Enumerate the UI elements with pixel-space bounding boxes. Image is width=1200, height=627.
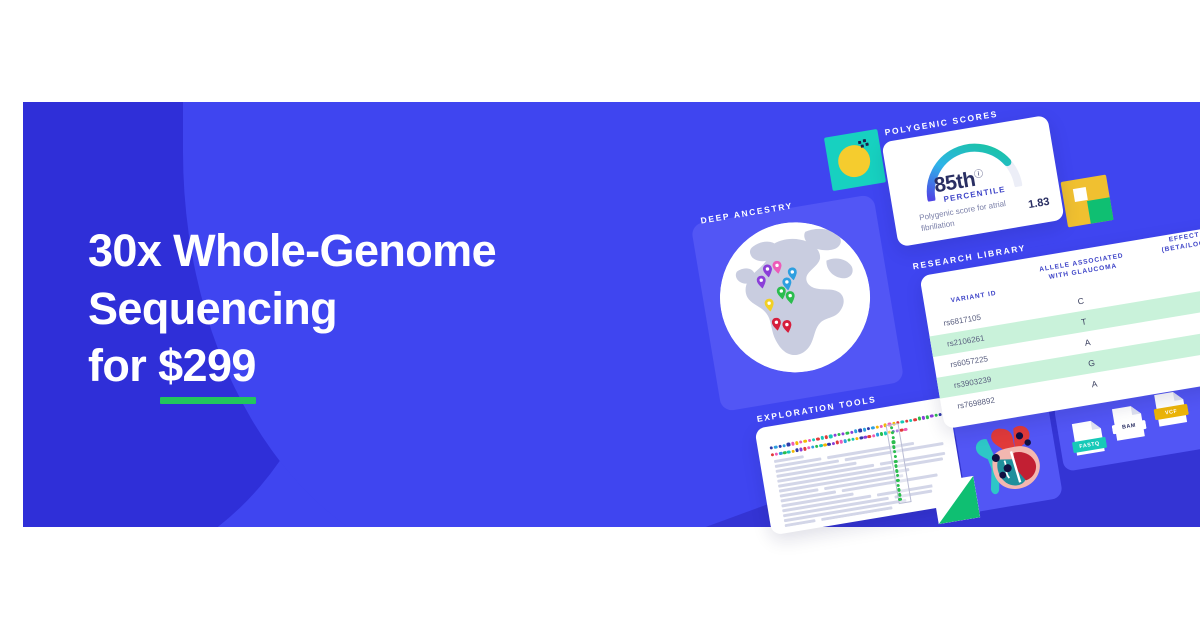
file-icon-bam[interactable]: BAM [1109,402,1148,443]
chromosome-marker [829,434,833,438]
selection-marker [894,459,898,463]
chromosome-marker [934,413,938,417]
polygenic-score-value: 1.83 [1027,196,1050,211]
cell-variant-id: rs6057225 [950,354,989,369]
chromosome-marker [917,417,921,421]
chromosome-marker [782,444,786,448]
pin-pink [772,260,783,274]
chromosome-marker [867,427,871,431]
chromosome-marker [803,439,807,443]
price-value: $299 [158,340,256,391]
banner-stage: 30x Whole-Genome Sequencing for $299 DEE… [0,0,1200,627]
cell-allele: A [1091,378,1098,389]
selection-marker [891,436,895,440]
chromosome-marker [921,416,925,420]
chromosome-marker-secondary [835,441,839,445]
pin-green-2 [785,290,796,304]
quadrant-white-block [1073,187,1088,202]
file-icon-vcf[interactable]: VCF [1151,388,1190,429]
globe-illustration [709,211,882,384]
chromosome-marker-secondary [871,434,875,438]
chromosome-marker [926,415,930,419]
chromosome-marker [850,430,854,434]
selection-marker [892,440,896,444]
chromosome-marker [833,434,837,438]
cell-variant-id: rs3903239 [953,375,992,390]
cell-allele: T [1080,316,1087,327]
info-icon[interactable]: ⓘ [973,168,983,179]
chromosome-marker [774,445,778,449]
chromosome-marker-secondary [904,427,908,431]
chromosome-marker [858,429,862,433]
chromosome-marker [875,425,879,429]
headline: 30x Whole-Genome Sequencing for $299 [88,222,728,395]
cell-dot-4 [865,143,868,146]
selection-marker [898,493,902,497]
column-header-allele: ALLELE ASSOCIATED WITH GLAUCOMA [1032,251,1134,285]
headline-line-2-prefix: for [88,340,158,391]
headline-line-2: for $299 [88,337,728,395]
split-triangle-square [932,476,980,524]
chromosome-marker [795,441,799,445]
chromosome-marker [913,418,917,422]
chromosome-marker-secondary [795,448,799,452]
chromosome-marker-secondary [867,434,871,438]
chromosome-marker [930,414,934,418]
cell-allele: A [1084,337,1091,348]
split-green-triangle [932,476,980,524]
chromosome-marker-secondary [787,450,791,454]
quadrant-green-block [1087,197,1113,223]
chromosome-marker [820,436,824,440]
chromosome-marker [791,442,795,446]
cell-variant-id: rs2106261 [946,333,985,348]
chromosome-marker [816,437,820,441]
chromosome-marker-secondary [799,448,803,452]
cell-variant-id: rs7698892 [957,396,996,411]
cell-allele: C [1077,295,1085,306]
pin-yellow [764,298,775,312]
chromosome-marker [837,433,841,437]
chromosome-marker [778,444,782,448]
selection-marker [897,488,901,492]
cell-dot-3 [861,144,864,147]
price-underline [160,397,256,404]
chromosome-marker [871,426,875,430]
chromosome-marker [812,438,816,442]
chromosome-marker-secondary [875,433,879,437]
headline-line-1: 30x Whole-Genome Sequencing [88,225,496,334]
cell-allele: G [1087,357,1095,368]
cell-variant-id: rs6817105 [943,313,982,328]
chromosome-marker [786,443,790,447]
pin-red-2 [782,319,793,333]
chromosome-marker [808,439,812,443]
price-wrapper: $299 [158,337,256,395]
chromosome-marker [841,432,845,436]
chromosome-marker [846,431,850,435]
chromosome-marker [770,446,774,450]
chromosome-marker-secondary [879,432,883,436]
chromosome-marker-secondary [827,442,831,446]
chromosome-marker-secondary [831,441,835,445]
chromosome-marker [905,419,909,423]
cell-motif-square [824,129,886,191]
chromosome-marker [879,424,883,428]
chromosome-marker-secondary [791,449,795,453]
selection-marker [895,469,899,473]
chromosome-marker [909,418,913,422]
chromosome-marker [854,429,858,433]
chromosome-marker [862,428,866,432]
quadrant-motif-square [1061,175,1114,228]
pin-purple-2 [756,275,767,289]
chromosome-marker-secondary [839,440,843,444]
chromosome-marker [799,440,803,444]
chromosome-marker [824,435,828,439]
chromosome-marker [900,420,904,424]
file-icon-fastq[interactable]: FASTQ [1069,417,1108,458]
pin-red-1 [771,317,782,331]
cell-circle [836,143,873,180]
